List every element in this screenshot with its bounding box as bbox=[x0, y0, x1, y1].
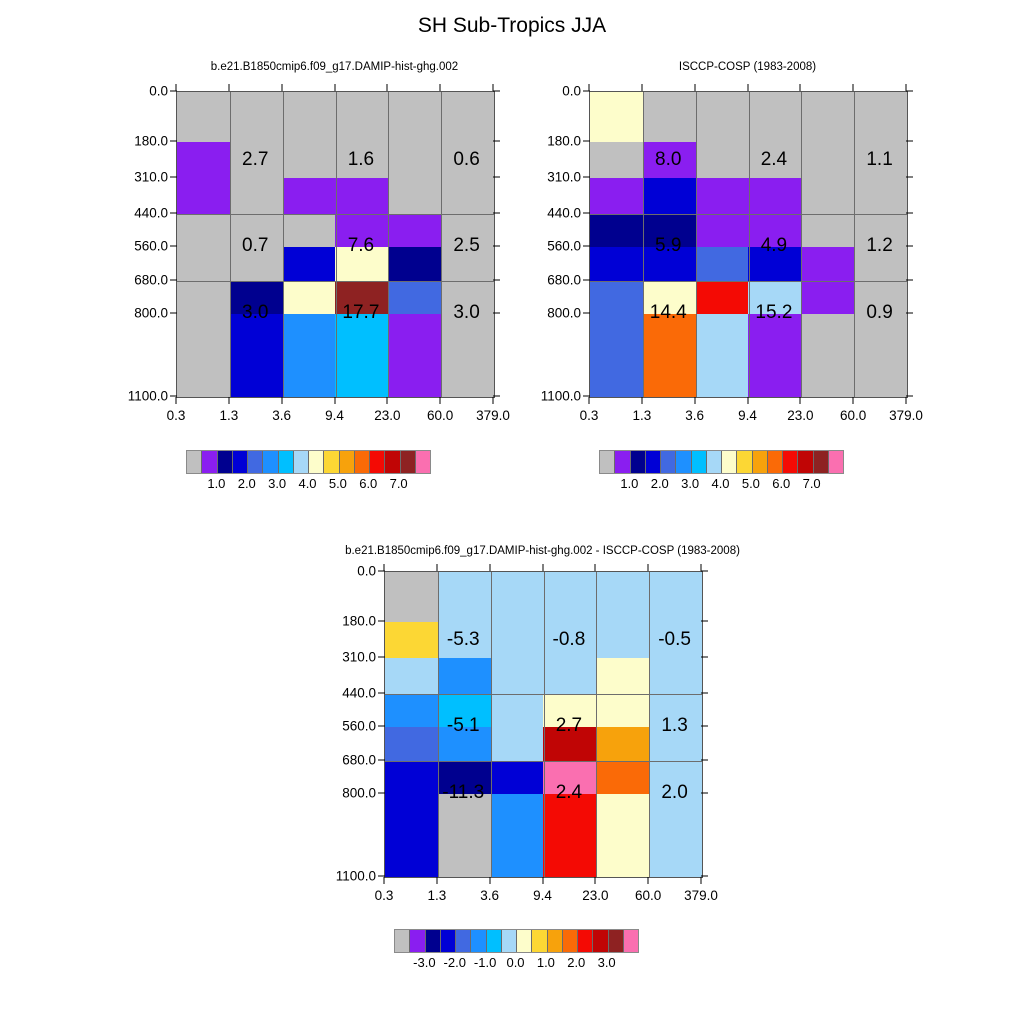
y-axis-label: 560.0 bbox=[116, 239, 168, 254]
heatmap-cell bbox=[543, 658, 596, 694]
colorbar-swatch[interactable] bbox=[600, 451, 615, 473]
y-axis-tick-right bbox=[701, 693, 708, 694]
heatmap-cell bbox=[801, 92, 854, 142]
cell-grid-model bbox=[177, 92, 494, 397]
x-axis-tick bbox=[701, 877, 702, 884]
heatmap-cell bbox=[801, 214, 854, 247]
cell-value-label: 17.7 bbox=[342, 302, 379, 324]
heatmap-cell bbox=[748, 314, 801, 397]
heatmap-cell bbox=[649, 572, 702, 622]
y-axis-tick-right bbox=[701, 656, 708, 657]
heatmap-cell bbox=[388, 92, 441, 142]
heatmap-cell bbox=[283, 178, 336, 214]
x-axis-label: 60.0 bbox=[840, 408, 866, 423]
colorbar-obs[interactable] bbox=[599, 450, 844, 474]
heatmap-cell bbox=[438, 572, 491, 622]
x-axis-tick-top bbox=[906, 84, 907, 91]
y-axis-label: 1100.0 bbox=[116, 389, 168, 404]
y-axis-label: 310.0 bbox=[116, 169, 168, 184]
colorbar-swatch[interactable] bbox=[798, 451, 813, 473]
y-axis-label: 0.0 bbox=[324, 564, 376, 579]
y-axis-label: 0.0 bbox=[116, 84, 168, 99]
y-axis-label: 310.0 bbox=[324, 649, 376, 664]
colorbar-swatch[interactable] bbox=[631, 451, 646, 473]
colorbar-swatch[interactable] bbox=[401, 451, 416, 473]
cell-value-label: 0.7 bbox=[242, 235, 268, 257]
y-axis-label: 800.0 bbox=[529, 305, 581, 320]
y-axis-label: 680.0 bbox=[116, 272, 168, 287]
y-axis-tick bbox=[378, 792, 385, 793]
colorbar-swatch[interactable] bbox=[676, 451, 691, 473]
colorbar-tick-label: 3.0 bbox=[598, 955, 616, 970]
x-axis-tick bbox=[228, 397, 229, 404]
colorbar-swatch[interactable] bbox=[324, 451, 339, 473]
heatmap-cell bbox=[388, 214, 441, 247]
y-axis-tick-right bbox=[493, 176, 500, 177]
plot-area-model bbox=[176, 91, 495, 398]
colorbar-tick-label: 0.0 bbox=[506, 955, 524, 970]
heatmap-cell bbox=[491, 694, 544, 727]
colorbar-swatch[interactable] bbox=[370, 451, 385, 473]
y-axis-tick bbox=[170, 312, 177, 313]
colorbar-tick-label: 3.0 bbox=[681, 476, 699, 491]
heatmap-cell bbox=[801, 314, 854, 397]
y-axis-tick bbox=[170, 279, 177, 280]
heatmap-cell bbox=[696, 142, 749, 178]
cell-value-label: 2.7 bbox=[556, 715, 582, 737]
colorbar-swatch[interactable] bbox=[456, 930, 471, 952]
colorbar-swatch[interactable] bbox=[395, 930, 410, 952]
heatmap-cell bbox=[854, 92, 907, 142]
x-axis-label: 0.3 bbox=[375, 888, 394, 903]
cell-value-label: 2.4 bbox=[556, 782, 582, 804]
heatmap-cell bbox=[491, 622, 544, 658]
y-axis-tick-right bbox=[701, 571, 708, 572]
heatmap-cell bbox=[696, 314, 749, 397]
colorbar-swatch[interactable] bbox=[548, 930, 563, 952]
colorbar-swatch[interactable] bbox=[218, 451, 233, 473]
x-axis-tick-top bbox=[542, 564, 543, 571]
x-axis-label: 9.4 bbox=[533, 888, 552, 903]
y-axis-tick-right bbox=[906, 312, 913, 313]
x-axis-tick bbox=[176, 397, 177, 404]
x-axis-tick bbox=[589, 397, 590, 404]
y-axis-tick bbox=[378, 620, 385, 621]
heatmap-cell bbox=[854, 178, 907, 214]
colorbar-tick-label: 4.0 bbox=[711, 476, 729, 491]
colorbar-swatch[interactable] bbox=[814, 451, 829, 473]
cell-value-label: 8.0 bbox=[655, 149, 681, 171]
colorbar-tick-label: 1.0 bbox=[537, 955, 555, 970]
colorbar-tick-label: 7.0 bbox=[390, 476, 408, 491]
colorbar-swatch[interactable] bbox=[187, 451, 202, 473]
heatmap-cell bbox=[643, 178, 696, 214]
colorbar-tick-label: 5.0 bbox=[742, 476, 760, 491]
heatmap-cell bbox=[491, 761, 544, 794]
cell-value-label: 2.4 bbox=[761, 149, 787, 171]
colorbar-swatch[interactable] bbox=[416, 451, 430, 473]
heatmap-cell bbox=[491, 727, 544, 760]
heatmap-cell bbox=[335, 178, 388, 214]
y-axis-tick bbox=[378, 693, 385, 694]
y-axis-tick bbox=[378, 759, 385, 760]
colorbar-tick-label: 6.0 bbox=[359, 476, 377, 491]
x-axis-label: 3.6 bbox=[272, 408, 291, 423]
x-axis-tick-top bbox=[384, 564, 385, 571]
heatmap-cell bbox=[643, 314, 696, 397]
heatmap-cell bbox=[283, 214, 336, 247]
x-axis-tick-top bbox=[493, 84, 494, 91]
heatmap-cell bbox=[491, 572, 544, 622]
heatmap-cell bbox=[596, 794, 649, 877]
page-title: SH Sub-Tropics JJA bbox=[0, 14, 1024, 38]
x-axis-tick bbox=[440, 397, 441, 404]
x-axis-tick-top bbox=[281, 84, 282, 91]
x-axis-tick bbox=[641, 397, 642, 404]
x-axis-tick bbox=[747, 397, 748, 404]
heatmap-cell bbox=[649, 658, 702, 694]
y-axis-label: 440.0 bbox=[116, 206, 168, 221]
heatmap-cell bbox=[177, 92, 230, 142]
colorbar-tick-label: 4.0 bbox=[298, 476, 316, 491]
heatmap-cell bbox=[596, 761, 649, 794]
colorbar-swatch[interactable] bbox=[532, 930, 547, 952]
heatmap-cell bbox=[696, 92, 749, 142]
x-axis-label: 60.0 bbox=[427, 408, 453, 423]
colorbar-swatch[interactable] bbox=[385, 451, 400, 473]
cell-value-label: -0.8 bbox=[553, 629, 586, 651]
heatmap-cell bbox=[177, 142, 230, 178]
heatmap-cell bbox=[590, 281, 643, 314]
y-axis-label: 180.0 bbox=[324, 613, 376, 628]
heatmap-cell bbox=[854, 314, 907, 397]
x-axis-label: 23.0 bbox=[582, 888, 608, 903]
colorbar-swatch[interactable] bbox=[646, 451, 661, 473]
x-axis-tick bbox=[489, 877, 490, 884]
x-axis-tick bbox=[493, 397, 494, 404]
colorbar-swatch[interactable] bbox=[578, 930, 593, 952]
heatmap-cell bbox=[491, 658, 544, 694]
heatmap-cell bbox=[177, 178, 230, 214]
x-axis-tick bbox=[384, 877, 385, 884]
y-axis-label: 180.0 bbox=[116, 133, 168, 148]
heatmap-cell bbox=[748, 178, 801, 214]
y-axis-tick-right bbox=[493, 279, 500, 280]
y-axis-tick bbox=[170, 176, 177, 177]
y-axis-tick-right bbox=[701, 792, 708, 793]
x-axis-label: 60.0 bbox=[635, 888, 661, 903]
colorbar-tick-label: -1.0 bbox=[474, 955, 496, 970]
y-axis-tick bbox=[583, 213, 590, 214]
y-axis-label: 800.0 bbox=[116, 305, 168, 320]
colorbar-tick-label: 1.0 bbox=[207, 476, 225, 491]
colorbar-tick-label: -2.0 bbox=[444, 955, 466, 970]
colorbar-swatch[interactable] bbox=[615, 451, 630, 473]
colorbar-swatch[interactable] bbox=[279, 451, 294, 473]
heatmap-cell bbox=[596, 727, 649, 760]
heatmap-cell bbox=[543, 794, 596, 877]
y-axis-label: 1100.0 bbox=[529, 389, 581, 404]
x-axis-tick-top bbox=[440, 84, 441, 91]
x-axis-label: 1.3 bbox=[427, 888, 446, 903]
heatmap-cell bbox=[388, 247, 441, 280]
heatmap-cell bbox=[543, 572, 596, 622]
colorbar-swatch[interactable] bbox=[309, 451, 324, 473]
colorbar-swatch[interactable] bbox=[410, 930, 425, 952]
heatmap-cell bbox=[643, 92, 696, 142]
heatmap-cell bbox=[596, 658, 649, 694]
y-axis-label: 680.0 bbox=[324, 752, 376, 767]
x-axis-label: 23.0 bbox=[374, 408, 400, 423]
x-axis-label: 0.3 bbox=[580, 408, 599, 423]
cell-value-label: 14.4 bbox=[650, 302, 687, 324]
heatmap-cell bbox=[230, 178, 283, 214]
cell-value-label: -11.3 bbox=[442, 782, 484, 804]
x-axis-tick-top bbox=[701, 564, 702, 571]
y-axis-label: 680.0 bbox=[529, 272, 581, 287]
heatmap-cell bbox=[283, 92, 336, 142]
colorbar-swatch[interactable] bbox=[624, 930, 638, 952]
colorbar-swatch[interactable] bbox=[707, 451, 722, 473]
x-axis-label: 0.3 bbox=[167, 408, 186, 423]
colorbar-swatch[interactable] bbox=[692, 451, 707, 473]
cell-value-label: -5.3 bbox=[447, 629, 480, 651]
cell-value-label: 2.7 bbox=[242, 149, 268, 171]
colorbar-tick-label: 1.0 bbox=[620, 476, 638, 491]
colorbar-tick-label: 3.0 bbox=[268, 476, 286, 491]
x-axis-tick-top bbox=[853, 84, 854, 91]
x-axis-tick bbox=[906, 397, 907, 404]
x-axis-tick-top bbox=[176, 84, 177, 91]
colorbar-swatch[interactable] bbox=[294, 451, 309, 473]
y-axis-tick bbox=[583, 279, 590, 280]
cell-value-label: 5.9 bbox=[655, 235, 681, 257]
heatmap-cell bbox=[335, 92, 388, 142]
y-axis-tick-right bbox=[493, 91, 500, 92]
y-axis-tick-right bbox=[906, 396, 913, 397]
y-axis-label: 180.0 bbox=[529, 133, 581, 148]
heatmap-cell bbox=[230, 92, 283, 142]
colorbar-swatch[interactable] bbox=[471, 930, 486, 952]
heatmap-cell bbox=[596, 694, 649, 727]
colorbar-swatch[interactable] bbox=[263, 451, 278, 473]
colorbar-swatch[interactable] bbox=[609, 930, 624, 952]
x-axis-tick-top bbox=[334, 84, 335, 91]
colorbar-tick-label: 2.0 bbox=[651, 476, 669, 491]
y-axis-tick bbox=[170, 246, 177, 247]
x-axis-tick-top bbox=[589, 84, 590, 91]
cell-value-label: 1.1 bbox=[866, 149, 892, 171]
heatmap-cell bbox=[283, 142, 336, 178]
heatmap-cell bbox=[441, 314, 494, 397]
x-axis-tick-top bbox=[641, 84, 642, 91]
heatmap-cell bbox=[696, 178, 749, 214]
x-axis-tick bbox=[853, 397, 854, 404]
x-axis-tick-top bbox=[595, 564, 596, 571]
heatmap-cell bbox=[441, 92, 494, 142]
y-axis-tick bbox=[170, 140, 177, 141]
x-axis-tick-top bbox=[436, 564, 437, 571]
colorbar-swatch[interactable] bbox=[737, 451, 752, 473]
x-axis-tick bbox=[648, 877, 649, 884]
heatmap-cell bbox=[748, 92, 801, 142]
x-axis-tick-top bbox=[387, 84, 388, 91]
heatmap-cell bbox=[590, 92, 643, 142]
y-axis-label: 0.0 bbox=[529, 84, 581, 99]
cell-value-label: 2.0 bbox=[661, 782, 687, 804]
colorbar-swatch[interactable] bbox=[661, 451, 676, 473]
heatmap-cell bbox=[491, 794, 544, 877]
y-axis-label: 1100.0 bbox=[324, 869, 376, 884]
x-axis-label: 3.6 bbox=[480, 888, 499, 903]
heatmap-cell bbox=[649, 794, 702, 877]
cell-value-label: 0.9 bbox=[866, 302, 892, 324]
y-axis-tick-right bbox=[906, 176, 913, 177]
colorbar-swatch[interactable] bbox=[248, 451, 263, 473]
heatmap-cell bbox=[696, 281, 749, 314]
heatmap-cell bbox=[283, 281, 336, 314]
colorbar-swatch[interactable] bbox=[487, 930, 502, 952]
colorbar-tick-label: 7.0 bbox=[803, 476, 821, 491]
heatmap-cell bbox=[696, 214, 749, 247]
x-axis-tick bbox=[436, 877, 437, 884]
heatmap-cell bbox=[801, 247, 854, 280]
colorbar-difference[interactable] bbox=[394, 929, 639, 953]
x-axis-tick bbox=[387, 397, 388, 404]
colorbar-swatch[interactable] bbox=[517, 930, 532, 952]
x-axis-label: 1.3 bbox=[219, 408, 238, 423]
heatmap-cell bbox=[283, 247, 336, 280]
x-axis-tick-top bbox=[489, 564, 490, 571]
x-axis-label: 379.0 bbox=[889, 408, 923, 423]
y-axis-label: 560.0 bbox=[529, 239, 581, 254]
heatmap-cell bbox=[590, 214, 643, 247]
heatmap-cell bbox=[388, 178, 441, 214]
panel-title-obs: ISCCP-COSP (1983-2008) bbox=[589, 61, 906, 73]
colorbar-swatch[interactable] bbox=[340, 451, 355, 473]
heatmap-cell bbox=[438, 658, 491, 694]
cell-value-label: 2.5 bbox=[453, 235, 479, 257]
x-axis-tick-top bbox=[747, 84, 748, 91]
colorbar-swatch[interactable] bbox=[233, 451, 248, 473]
x-axis-label: 379.0 bbox=[684, 888, 718, 903]
y-axis-tick-right bbox=[906, 213, 913, 214]
heatmap-cell bbox=[385, 694, 438, 727]
colorbar-swatch[interactable] bbox=[441, 930, 456, 952]
heatmap-cell bbox=[385, 658, 438, 694]
y-axis-label: 310.0 bbox=[529, 169, 581, 184]
colorbar-swatch[interactable] bbox=[829, 451, 843, 473]
cell-value-label: 3.0 bbox=[242, 302, 268, 324]
x-axis-label: 3.6 bbox=[685, 408, 704, 423]
heatmap-cell bbox=[177, 214, 230, 247]
y-axis-tick-right bbox=[493, 140, 500, 141]
heatmap-cell bbox=[438, 794, 491, 877]
x-axis-tick-top bbox=[648, 564, 649, 571]
colorbar-swatch[interactable] bbox=[753, 451, 768, 473]
plot-area-difference bbox=[384, 571, 703, 878]
heatmap-cell bbox=[590, 142, 643, 178]
colorbar-swatch[interactable] bbox=[563, 930, 578, 952]
colorbar-swatch[interactable] bbox=[426, 930, 441, 952]
x-axis-tick-top bbox=[800, 84, 801, 91]
y-axis-label: 800.0 bbox=[324, 785, 376, 800]
colorbar-swatch[interactable] bbox=[768, 451, 783, 473]
cell-value-label: -5.1 bbox=[447, 715, 480, 737]
y-axis-tick-right bbox=[493, 246, 500, 247]
cell-value-label: 4.9 bbox=[761, 235, 787, 257]
heatmap-cell bbox=[696, 247, 749, 280]
colorbar-swatch[interactable] bbox=[783, 451, 798, 473]
cell-value-label: 7.6 bbox=[348, 235, 374, 257]
colorbar-swatch[interactable] bbox=[355, 451, 370, 473]
colorbar-tick-label: 2.0 bbox=[238, 476, 256, 491]
x-axis-tick bbox=[800, 397, 801, 404]
y-axis-tick-right bbox=[701, 620, 708, 621]
colorbar-swatch[interactable] bbox=[202, 451, 217, 473]
cell-value-label: 1.2 bbox=[866, 235, 892, 257]
heatmap-cell bbox=[385, 794, 438, 877]
y-axis-tick-right bbox=[906, 91, 913, 92]
heatmap-cell bbox=[177, 314, 230, 397]
y-axis-tick bbox=[378, 656, 385, 657]
y-axis-tick-right bbox=[906, 279, 913, 280]
x-axis-tick-top bbox=[694, 84, 695, 91]
panel-title-model: b.e21.B1850cmip6.f09_g17.DAMIP-hist-ghg.… bbox=[176, 61, 493, 73]
y-axis-label: 440.0 bbox=[324, 686, 376, 701]
y-axis-tick-right bbox=[906, 140, 913, 141]
heatmap-cell bbox=[230, 314, 283, 397]
heatmap-cell bbox=[385, 727, 438, 760]
panel-title-difference: b.e21.B1850cmip6.f09_g17.DAMIP-hist-ghg.… bbox=[270, 545, 815, 557]
y-axis-tick bbox=[583, 246, 590, 247]
heatmap-cell bbox=[801, 142, 854, 178]
heatmap-cell bbox=[596, 572, 649, 622]
heatmap-cell bbox=[283, 314, 336, 397]
y-axis-tick bbox=[378, 726, 385, 727]
heatmap-cell bbox=[590, 247, 643, 280]
cell-grid-difference bbox=[385, 572, 702, 877]
cell-value-label: 15.2 bbox=[755, 302, 792, 324]
x-axis-label: 1.3 bbox=[632, 408, 651, 423]
x-axis-label: 9.4 bbox=[325, 408, 344, 423]
x-axis-tick-top bbox=[228, 84, 229, 91]
y-axis-tick bbox=[583, 140, 590, 141]
cell-grid-obs bbox=[590, 92, 907, 397]
heatmap-cell bbox=[388, 281, 441, 314]
y-axis-label: 560.0 bbox=[324, 719, 376, 734]
colorbar-model[interactable] bbox=[186, 450, 431, 474]
y-axis-tick-right bbox=[701, 726, 708, 727]
colorbar-swatch[interactable] bbox=[593, 930, 608, 952]
cell-value-label: 1.3 bbox=[661, 715, 687, 737]
heatmap-cell bbox=[441, 178, 494, 214]
cell-value-label: 0.6 bbox=[453, 149, 479, 171]
heatmap-cell bbox=[177, 281, 230, 314]
x-axis-tick bbox=[281, 397, 282, 404]
colorbar-tick-label: 6.0 bbox=[772, 476, 790, 491]
y-axis-tick-right bbox=[701, 876, 708, 877]
heatmap-cell bbox=[590, 178, 643, 214]
colorbar-swatch[interactable] bbox=[722, 451, 737, 473]
y-axis-tick bbox=[583, 176, 590, 177]
heatmap-cell bbox=[385, 761, 438, 794]
cell-value-label: 1.6 bbox=[348, 149, 374, 171]
plot-area-obs bbox=[589, 91, 908, 398]
x-axis-label: 9.4 bbox=[738, 408, 757, 423]
colorbar-swatch[interactable] bbox=[502, 930, 517, 952]
heatmap-cell bbox=[801, 178, 854, 214]
